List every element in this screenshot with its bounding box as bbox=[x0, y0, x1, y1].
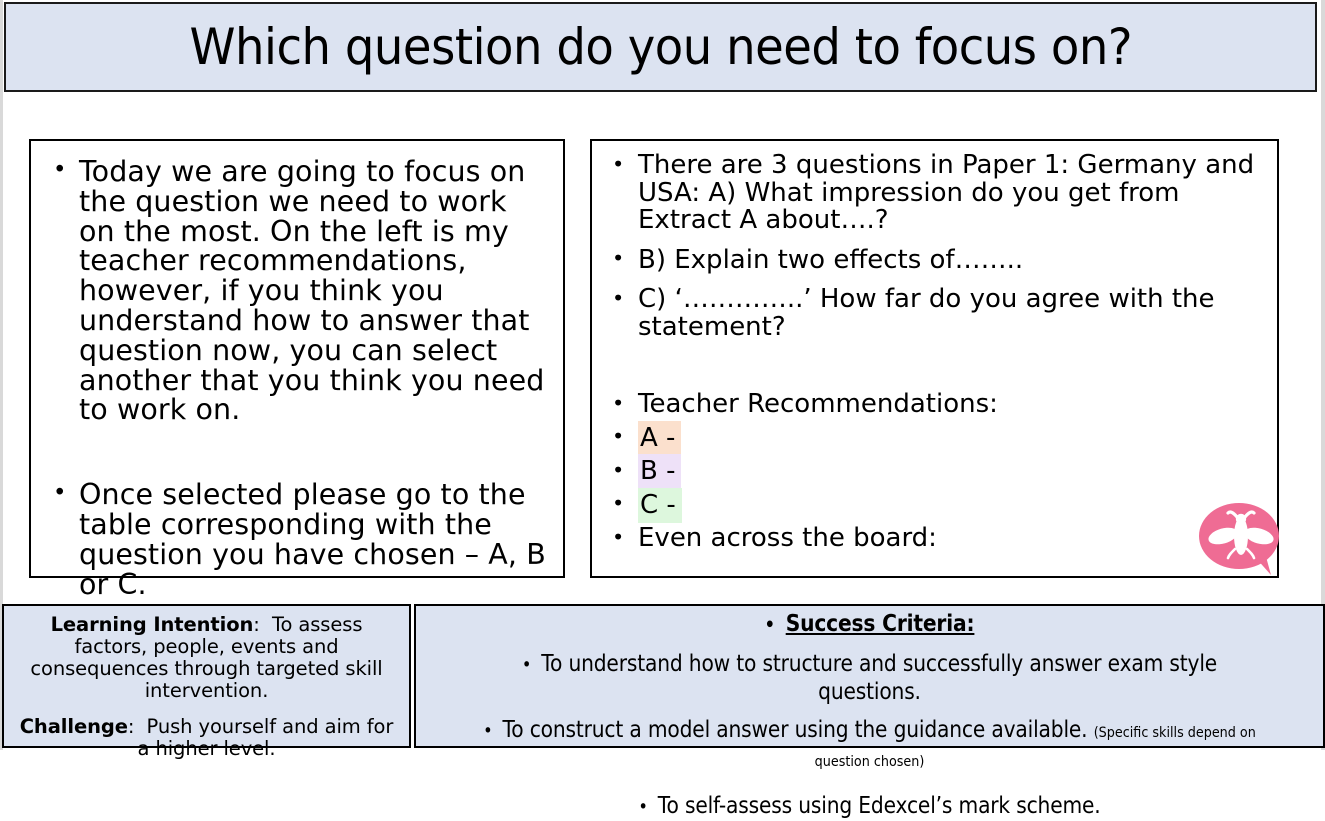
recommendation-label-c: C - bbox=[638, 488, 682, 523]
right-content-box: There are 3 questions in Paper 1: German… bbox=[590, 139, 1279, 578]
learning-intention-box: Learning Intention: To assess factors, p… bbox=[2, 604, 411, 748]
recommendation-row-c: C - bbox=[602, 492, 1267, 520]
list-item: There are 3 questions in Paper 1: German… bbox=[602, 152, 1267, 235]
success-criteria-item-2: To construct a model answer using the gu… bbox=[479, 717, 1260, 775]
success-criteria-list: Success Criteria: To understand how to s… bbox=[426, 611, 1313, 821]
slide-canvas: Which question do you need to focus on? … bbox=[0, 0, 1325, 750]
success-criteria-item-3: To self-assess using Edexcel’s mark sche… bbox=[479, 793, 1260, 821]
challenge-line: Challenge: Push yourself and aim for a h… bbox=[12, 716, 401, 760]
success-criteria-heading: Success Criteria: bbox=[479, 611, 1260, 639]
challenge-colon: : bbox=[128, 715, 134, 738]
challenge-label: Challenge bbox=[20, 715, 128, 738]
left-bullet-list: Today we are going to focus on the quest… bbox=[43, 157, 551, 599]
even-across-board-label: Even across the board: bbox=[602, 525, 1267, 553]
right-bullet-list: There are 3 questions in Paper 1: German… bbox=[602, 152, 1267, 553]
learning-intention-label: Learning Intention bbox=[51, 613, 254, 636]
success-criteria-item-2-text: To construct a model answer using the gu… bbox=[502, 717, 1087, 743]
teacher-recommendations-label: Teacher Recommendations: bbox=[602, 391, 1267, 419]
success-criteria-heading-text: Success Criteria: bbox=[786, 611, 975, 637]
recommendation-row-a: A - bbox=[602, 425, 1267, 453]
bee-logo bbox=[1199, 503, 1283, 575]
challenge-text: Push yourself and aim for a higher level… bbox=[138, 715, 394, 760]
recommendation-label-b: B - bbox=[638, 454, 681, 489]
list-item: Once selected please go to the table cor… bbox=[43, 480, 551, 599]
list-item: B) Explain two effects of…….. bbox=[602, 247, 1267, 275]
page-title: Which question do you need to focus on? bbox=[189, 22, 1132, 72]
recommendation-row-b: B - bbox=[602, 458, 1267, 486]
learning-intention-colon: : bbox=[253, 613, 259, 636]
success-criteria-item-1: To understand how to structure and succe… bbox=[479, 651, 1260, 705]
slide-title-bar: Which question do you need to focus on? bbox=[4, 2, 1317, 92]
success-criteria-box: Success Criteria: To understand how to s… bbox=[414, 604, 1325, 748]
left-content-box: Today we are going to focus on the quest… bbox=[29, 139, 565, 578]
list-item: Today we are going to focus on the quest… bbox=[43, 157, 551, 425]
learning-intention-line: Learning Intention: To assess factors, p… bbox=[12, 614, 401, 702]
recommendation-label-a: A - bbox=[638, 421, 681, 456]
list-item: C) ‘…………..’ How far do you agree with th… bbox=[602, 286, 1267, 341]
